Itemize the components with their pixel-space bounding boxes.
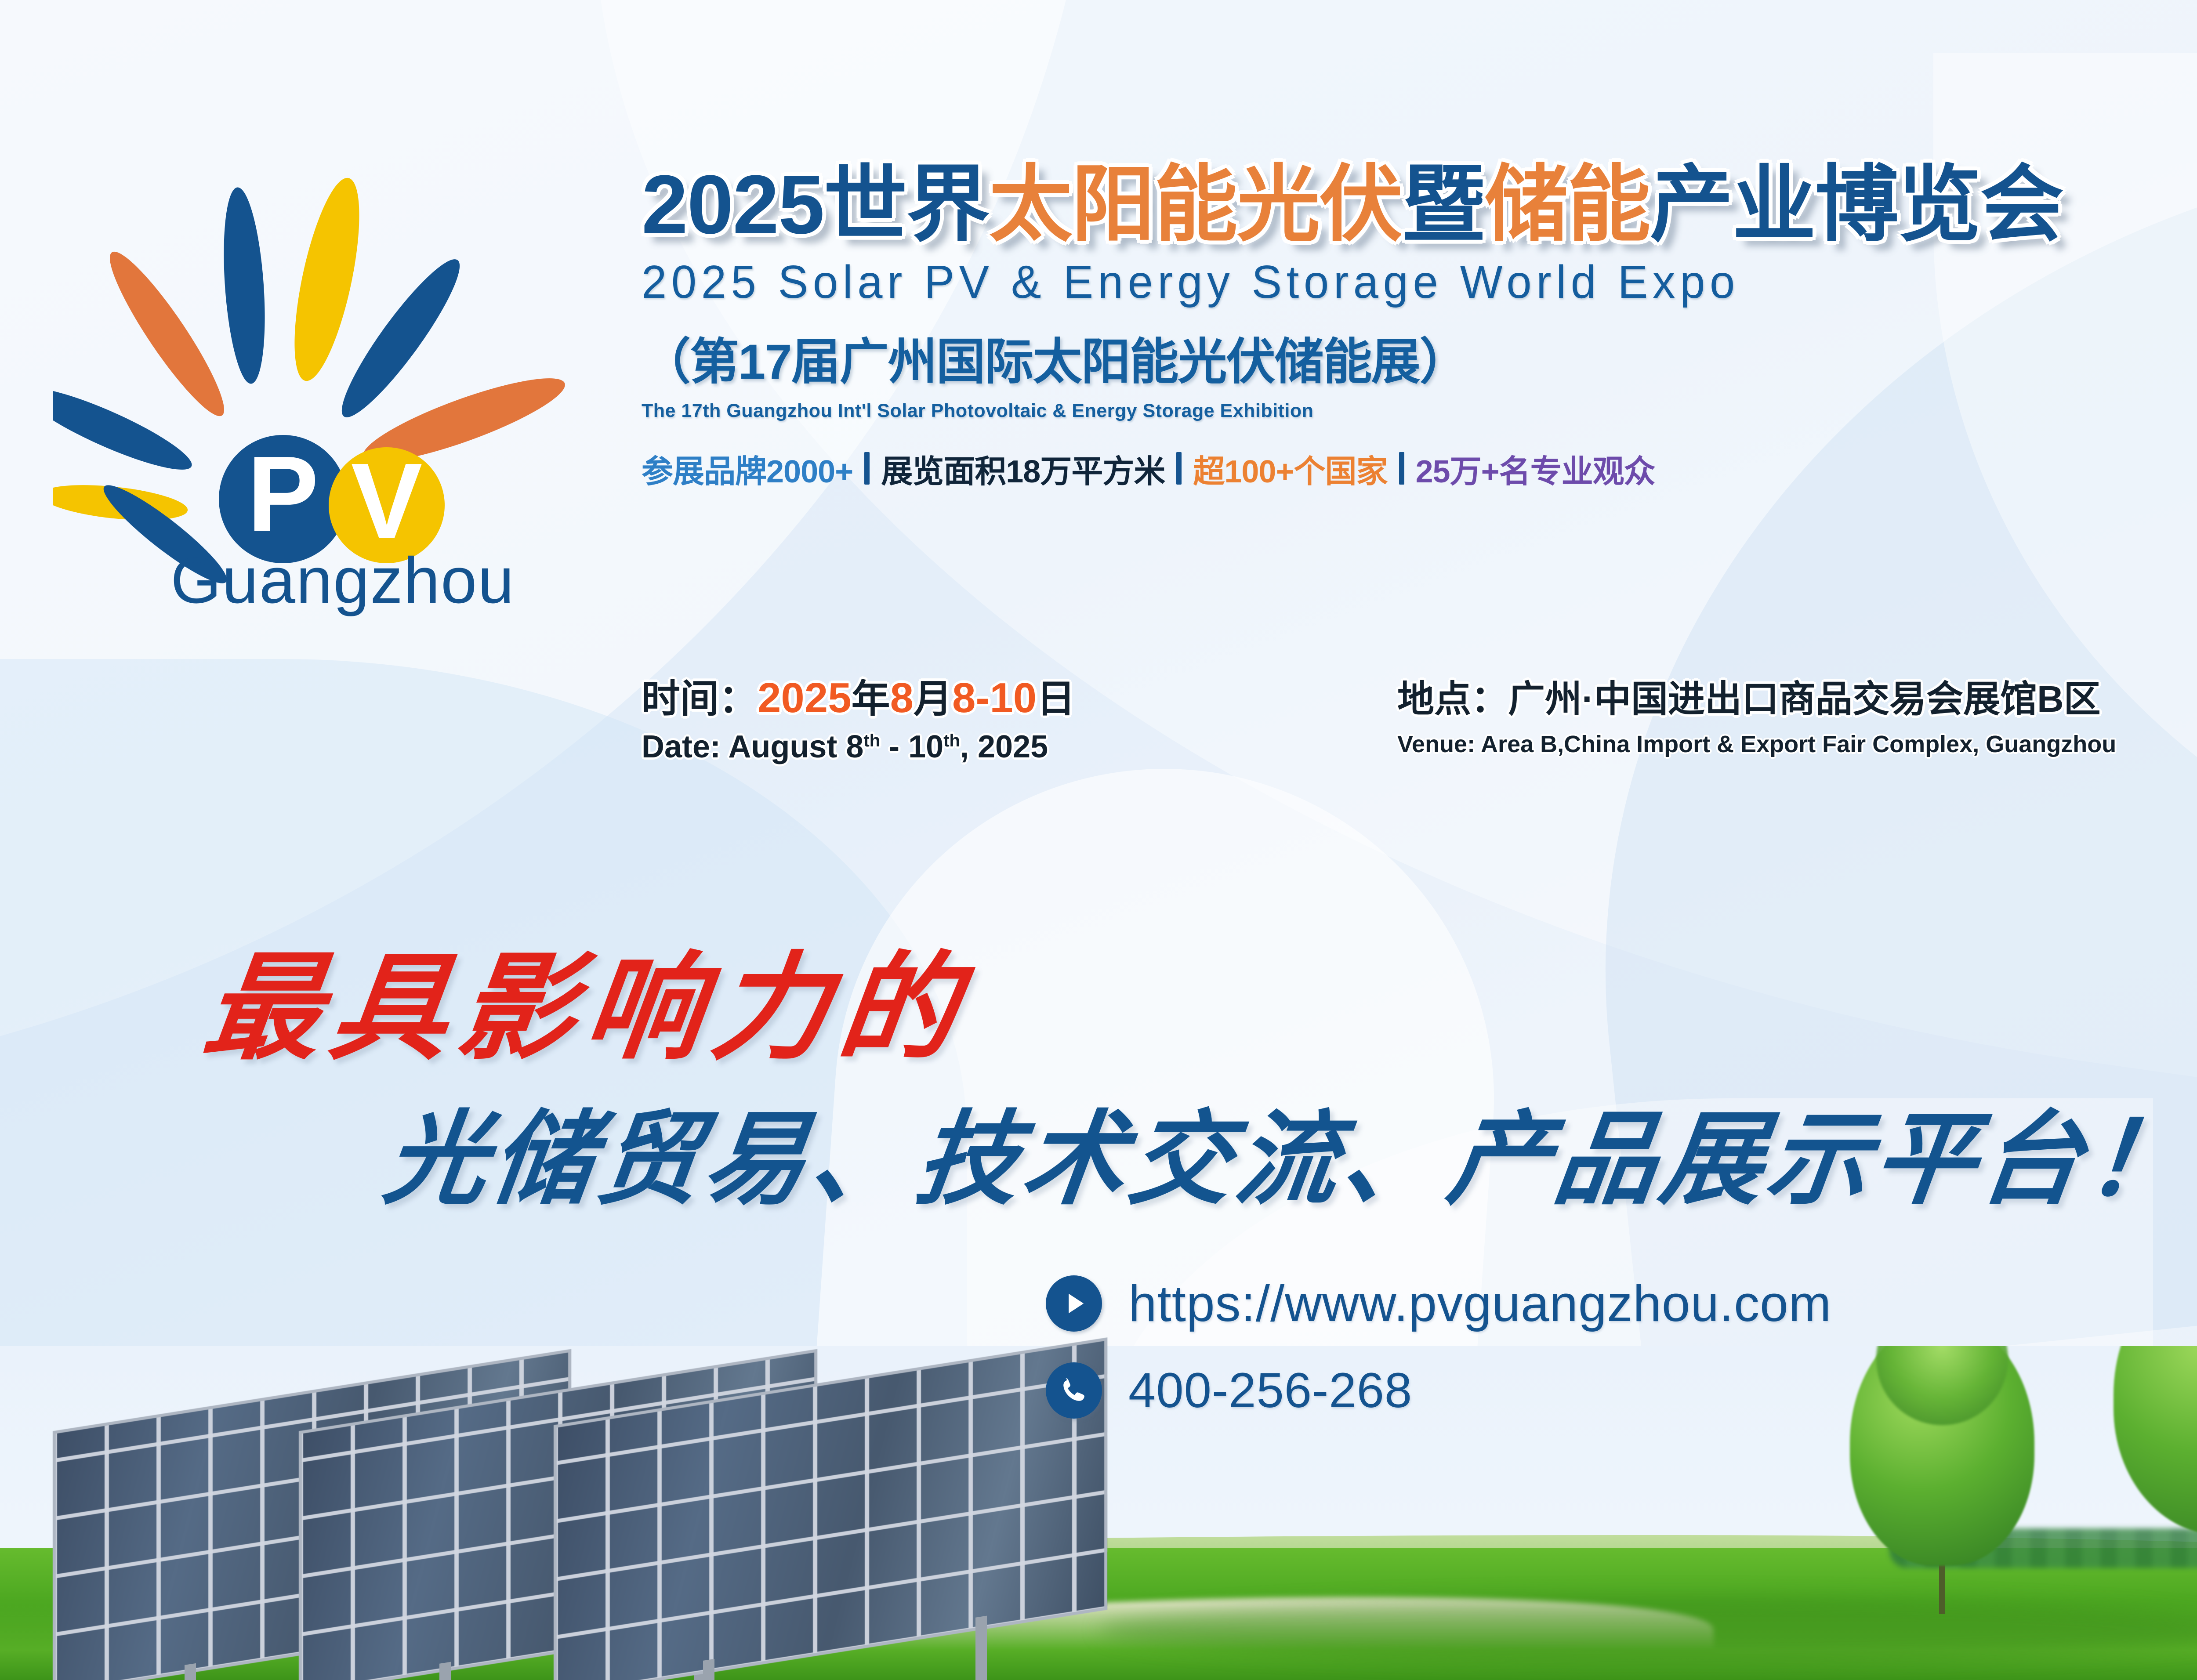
edition-english: The 17th Guangzhou Int'l Solar Photovolt…: [642, 400, 2197, 422]
svg-text:V: V: [351, 441, 423, 561]
play-arrow-icon: [1046, 1275, 1102, 1332]
pv-guangzhou-logo[interactable]: P V Guangzhou: [53, 176, 571, 624]
stat-divider: [1176, 452, 1182, 485]
edition-chinese: （第17届广州国际太阳能光伏储能展）: [642, 322, 2197, 393]
date-en-suffix: , 2025: [960, 729, 1048, 764]
title-segment-5: 产业博览会: [1650, 158, 2063, 251]
date-year-suffix: 年: [852, 677, 890, 721]
date-en-ordinal-1: th: [863, 731, 880, 750]
date-year: 2025: [758, 674, 852, 721]
date-en-mid: - 10: [880, 729, 943, 764]
subtitle-english: 2025 Solar PV & Energy Storage World Exp…: [642, 256, 2197, 309]
date-english: Date: August 8th - 10th, 2025: [642, 729, 1397, 765]
expo-banner: P V Guangzhou 2025世界太阳能光伏暨储能产业博览会 2025 S…: [0, 0, 2197, 1680]
venue-chinese: 地点：广州·中国进出口商品交易会展馆B区: [1397, 670, 2116, 723]
phone-row[interactable]: 400-256-268: [1046, 1362, 1831, 1419]
title-segment-4: 储能: [1485, 158, 1650, 251]
date-column: 时间：2025年8月8-10日 Date: August 8th - 10th,…: [642, 668, 1397, 765]
svg-text:P: P: [247, 434, 319, 554]
logo-city-label: Guangzhou: [170, 544, 515, 617]
stat-brands: 参展品牌2000+: [642, 445, 853, 492]
date-month-suffix: 月: [914, 677, 952, 721]
slogan-line-1: 最具影响力的: [196, 914, 979, 1082]
phone-number[interactable]: 400-256-268: [1128, 1362, 1412, 1419]
date-days-suffix: 日: [1037, 677, 1075, 721]
title-segment-0: 2025: [642, 158, 824, 251]
date-chinese: 时间：2025年8月8-10日: [642, 668, 1397, 724]
contact-block: https://www.pvguangzhou.com 400-256-268: [1046, 1274, 1831, 1448]
website-row[interactable]: https://www.pvguangzhou.com: [1046, 1274, 1831, 1333]
title-segment-1: 世界: [824, 158, 989, 251]
date-label-cn: 时间：: [642, 677, 758, 721]
date-en-prefix: Date: August 8: [642, 729, 863, 764]
pv-letters: P V: [219, 434, 445, 563]
grass-shadow: [1098, 1597, 2197, 1662]
stat-divider: [1399, 452, 1404, 485]
slogan-line-2: 光储贸易、技术交流、产品展示平台！: [377, 1076, 2197, 1224]
phone-handset-icon: [1046, 1362, 1102, 1419]
stat-countries: 超100+个国家: [1193, 445, 1387, 492]
date-en-ordinal-2: th: [943, 731, 960, 750]
title-segment-3: 暨: [1402, 158, 1485, 251]
date-venue-block: 时间：2025年8月8-10日 Date: August 8th - 10th,…: [642, 668, 2197, 765]
main-title: 2025世界太阳能光伏暨储能产业博览会: [642, 163, 2197, 248]
venue-column: 地点：广州·中国进出口商品交易会展馆B区 Venue: Area B,China…: [1397, 668, 2116, 765]
stat-visitors: 25万+名专业观众: [1416, 445, 1655, 492]
stats-row: 参展品牌2000+ 展览面积18万平方米 超100+个国家 25万+名专业观众: [642, 445, 2197, 492]
venue-english: Venue: Area B,China Import & Export Fair…: [1397, 731, 2116, 758]
stat-divider: [864, 452, 870, 485]
date-days: 8-10: [952, 674, 1037, 721]
headline-block: 2025世界太阳能光伏暨储能产业博览会 2025 Solar PV & Ener…: [642, 163, 2197, 492]
website-url[interactable]: https://www.pvguangzhou.com: [1128, 1274, 1831, 1333]
solar-panel-array: [0, 1311, 1125, 1654]
stat-area: 展览面积18万平方米: [881, 445, 1165, 492]
title-segment-2: 太阳能光伏: [989, 158, 1402, 251]
date-month: 8: [890, 674, 914, 721]
